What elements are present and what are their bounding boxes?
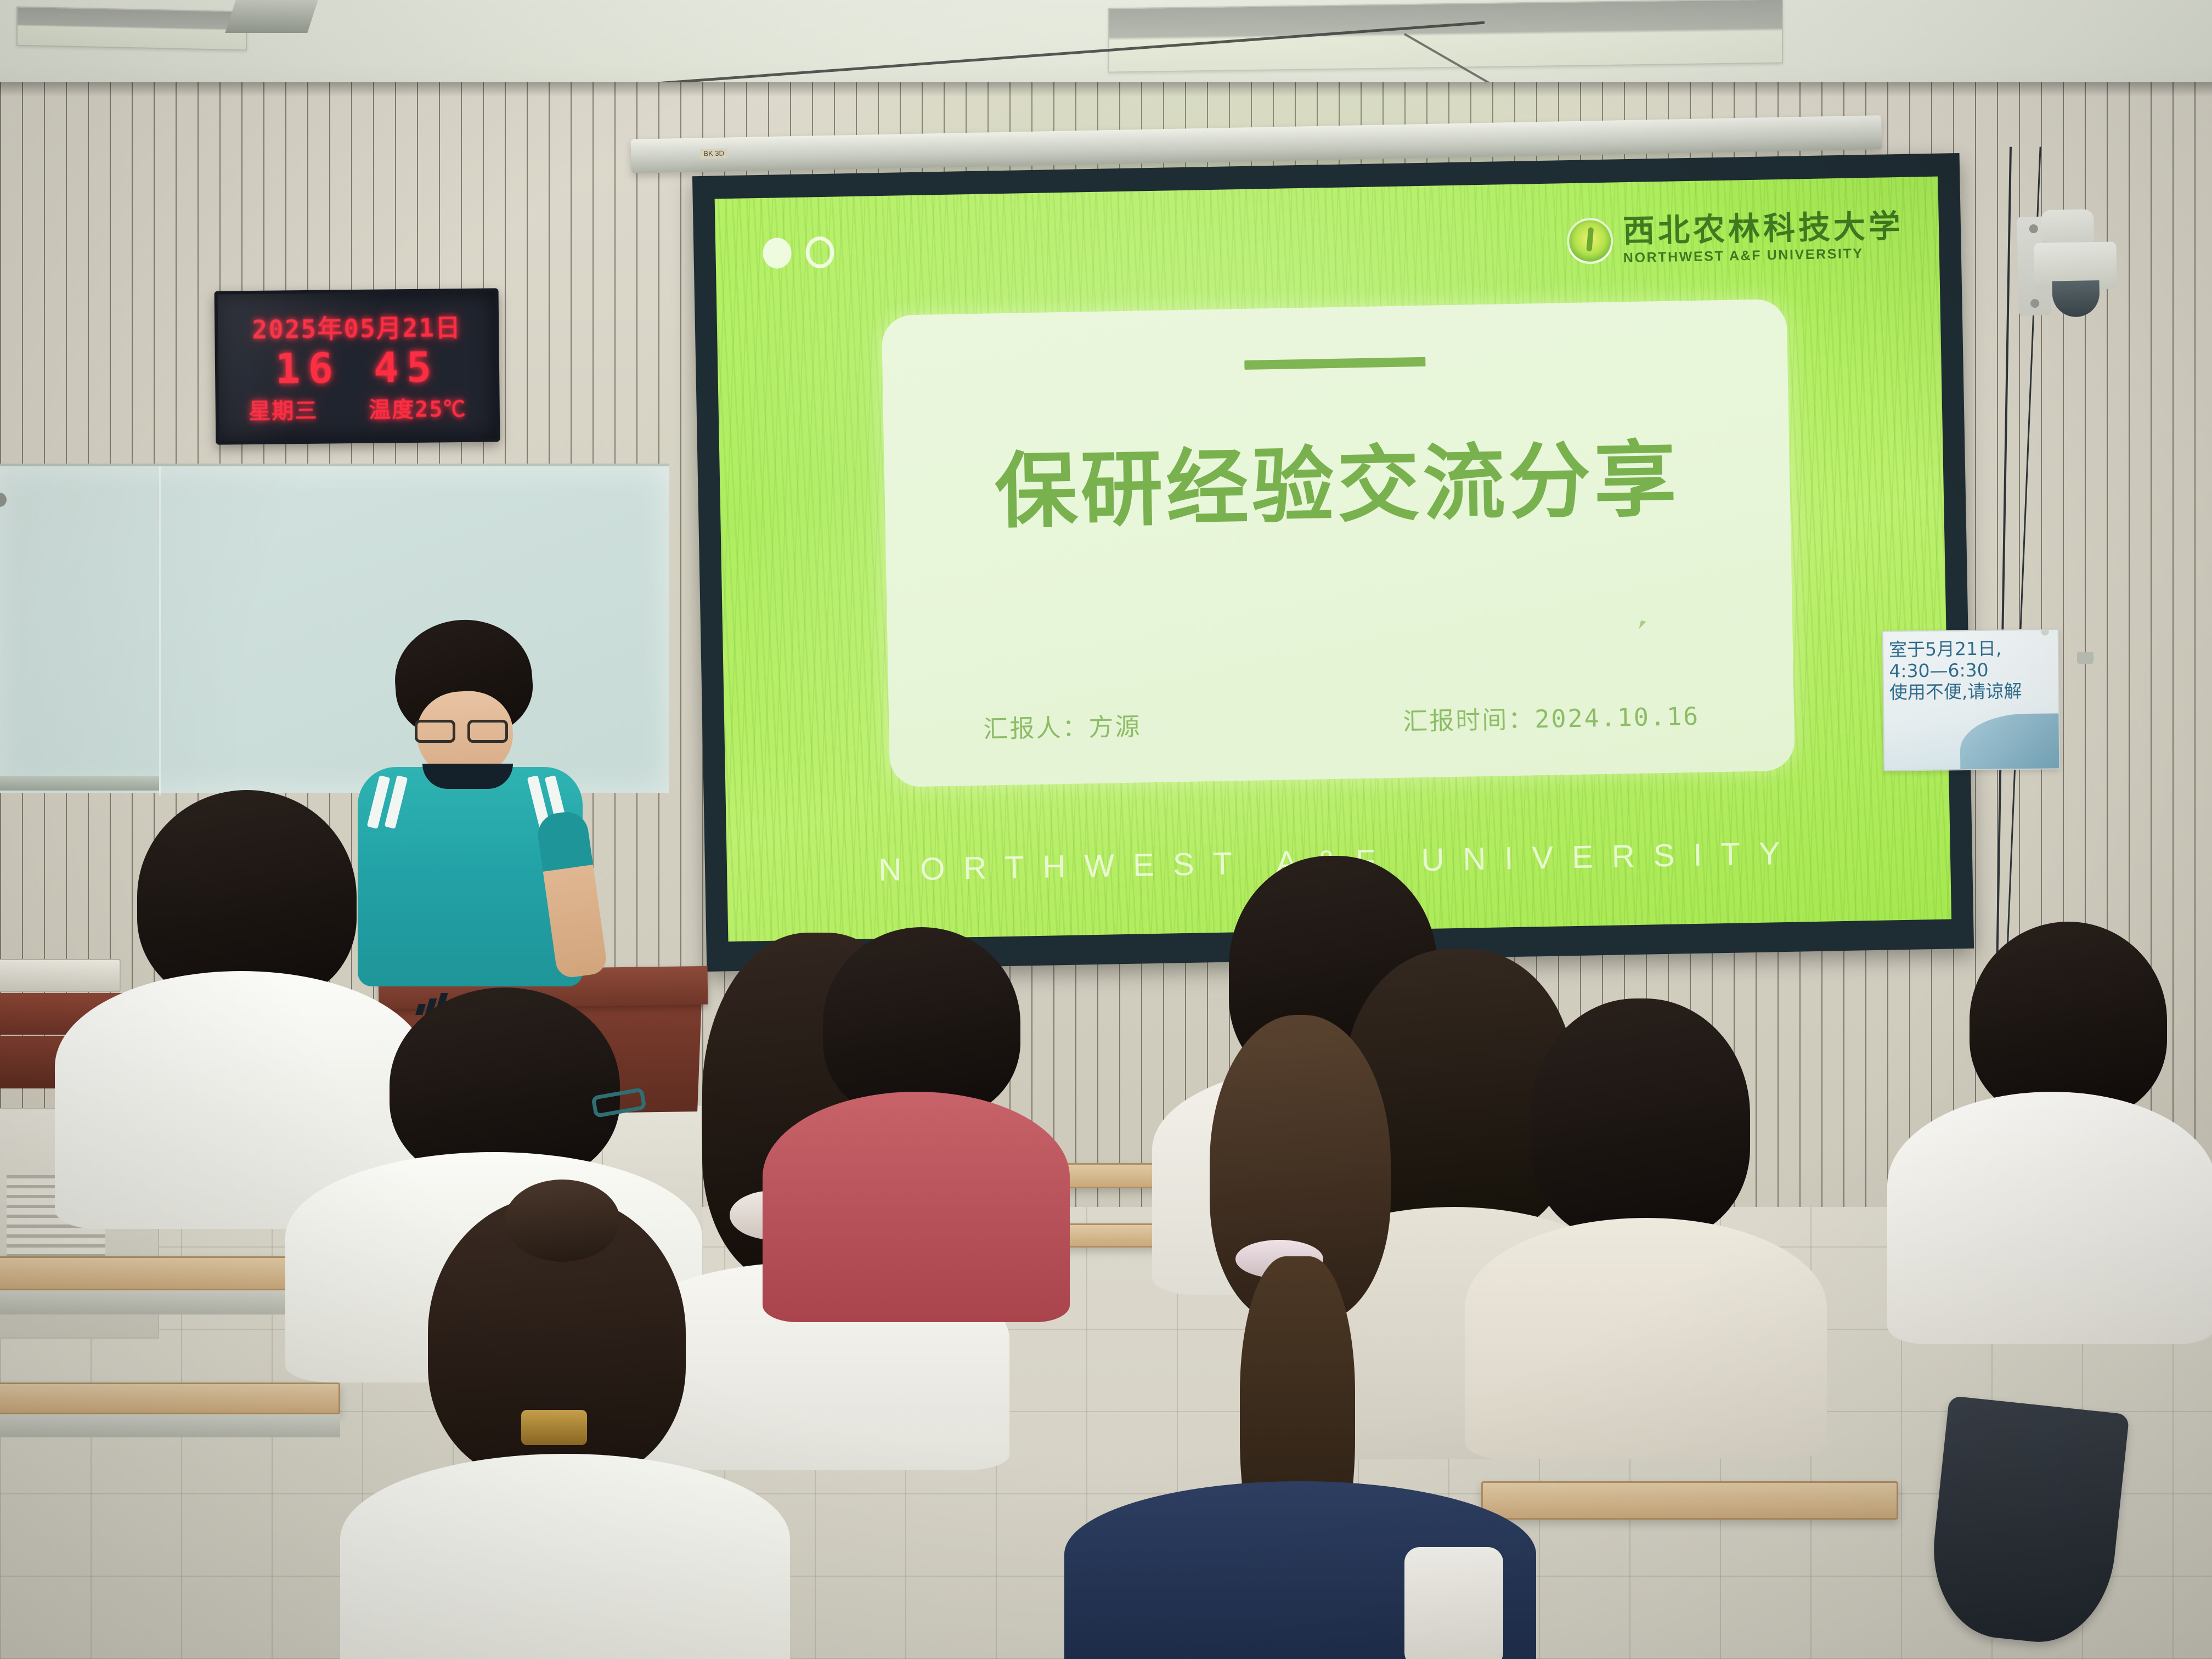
- university-brand: 西北农林科技大学 NORTHWEST A&F UNIVERSITY: [1566, 210, 1904, 266]
- led-clock-temperature: 温度25℃: [369, 391, 467, 424]
- presentation-slide: 西北农林科技大学 NORTHWEST A&F UNIVERSITY 保研经验交流…: [715, 177, 1951, 942]
- lace-sleeve: [1404, 1547, 1503, 1659]
- filled-circle-icon: [763, 238, 792, 269]
- student-shirt: [1465, 1218, 1827, 1459]
- slide-presenter: 汇报人：方源: [983, 706, 1142, 744]
- led-clock-display: 2025年05月21日 16 45 星期三 温度25℃: [215, 288, 500, 444]
- outline-circle-icon: [805, 236, 834, 269]
- led-clock-info: 星期三 温度25℃: [223, 391, 493, 425]
- slide-title-card: 保研经验交流分享 汇报人：方源 汇报时间：2024.10.16: [882, 299, 1795, 787]
- led-clock-date: 2025年05月21日: [222, 307, 492, 346]
- slide-decorative-dots: [763, 236, 834, 269]
- student-hair: [823, 927, 1020, 1119]
- hair-bun: [505, 1180, 620, 1262]
- note-line-3: 使用不便,请谅解: [1889, 680, 2053, 703]
- projection-screen: BK 3D 西北农林科技大学 NORTHWEST A&F UNIVERSITY …: [692, 153, 1974, 972]
- hair-clip: [521, 1410, 587, 1445]
- ceiling-mount-bracket: [225, 0, 318, 33]
- student-shirt: [763, 1092, 1070, 1322]
- note-board-hook: [2077, 652, 2093, 664]
- presenter-collar: [422, 764, 513, 789]
- wall-top-shadow: [0, 82, 2212, 97]
- slide-meta-row: 汇报人：方源 汇报时间：2024.10.16: [889, 695, 1795, 747]
- student-seated: [1887, 922, 2212, 1339]
- slide-date: 汇报时间：2024.10.16: [1403, 696, 1700, 737]
- handwritten-note-board: 室于5月21日, 4:30—6:30 使用不便,请谅解: [1882, 629, 2061, 771]
- title-accent-rule: [1244, 357, 1425, 370]
- student-shirt: [340, 1454, 790, 1659]
- student-seated: [1470, 998, 1810, 1448]
- led-clock-weekday: 星期三: [249, 393, 318, 425]
- desk-left-front-panel: [0, 1414, 340, 1437]
- whiteboard-tray: [0, 776, 159, 791]
- student-foreground: [340, 1196, 790, 1659]
- whiteboard-seam: [159, 466, 161, 795]
- note-line-2: 4:30—6:30: [1889, 659, 2052, 682]
- whiteboard-knob: [0, 493, 7, 507]
- led-clock-time: 16 45: [223, 346, 492, 390]
- note-line-1: 室于5月21日,: [1889, 637, 2052, 661]
- classroom-scene: 2025年05月21日 16 45 星期三 温度25℃ BK 3D BK 3D …: [0, 0, 2212, 1659]
- slide-title: 保研经验交流分享: [994, 438, 1680, 533]
- ceiling-light-left: [16, 7, 247, 51]
- screen-case-label: BK 3D: [700, 149, 727, 159]
- student-seated: [763, 927, 1070, 1311]
- student-hair: [1970, 922, 2167, 1119]
- camera-dome: [2052, 280, 2100, 317]
- student-shirt: [1887, 1092, 2212, 1344]
- desk-front-row: [1481, 1481, 1898, 1520]
- presenter-glasses-icon: [415, 720, 508, 738]
- ceiling-light-right: [1108, 0, 1783, 73]
- student-foreground-ponytail: [1075, 1020, 1503, 1659]
- security-camera-icon: [2017, 203, 2118, 331]
- note-pin: [2041, 629, 2049, 635]
- mouse-cursor-icon: [1639, 620, 1646, 630]
- student-hair: [1531, 998, 1750, 1240]
- university-emblem-icon: [1567, 217, 1614, 264]
- desk-left-front: [0, 1383, 340, 1414]
- university-name-cn: 西北农林科技大学: [1622, 210, 1904, 247]
